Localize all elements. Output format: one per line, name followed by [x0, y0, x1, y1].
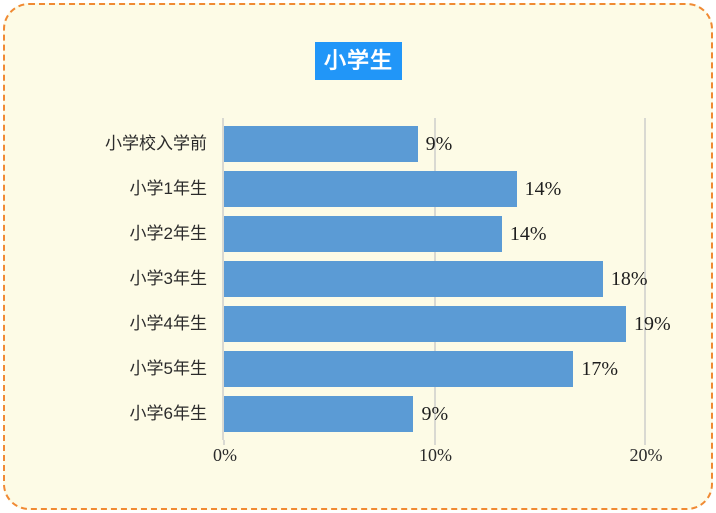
- bar-row: 小学6年生9%: [5, 396, 713, 432]
- x-tick-label: 20%: [606, 445, 686, 466]
- category-label: 小学4年生: [5, 306, 207, 342]
- bar-row: 小学3年生18%: [5, 261, 713, 297]
- bar-value-label: 9%: [426, 126, 453, 162]
- bar-value-label: 14%: [525, 171, 562, 207]
- bar-chart-plot-area: 0%10%20% 小学校入学前9%小学1年生14%小学2年生14%小学3年生18…: [5, 5, 713, 510]
- bar[interactable]: [224, 261, 603, 297]
- chart-card: 小学生 0%10%20% 小学校入学前9%小学1年生14%小学2年生14%小学3…: [3, 3, 713, 510]
- bar-row: 小学5年生17%: [5, 351, 713, 387]
- bar[interactable]: [224, 171, 517, 207]
- category-label: 小学2年生: [5, 216, 207, 252]
- x-tick-label: 0%: [185, 445, 265, 466]
- category-label: 小学1年生: [5, 171, 207, 207]
- bar-value-label: 19%: [634, 306, 671, 342]
- category-label: 小学3年生: [5, 261, 207, 297]
- bar-row: 小学2年生14%: [5, 216, 713, 252]
- bar-value-label: 17%: [581, 351, 618, 387]
- bar-row: 小学校入学前9%: [5, 126, 713, 162]
- category-label: 小学6年生: [5, 396, 207, 432]
- bar-value-label: 14%: [510, 216, 547, 252]
- bar[interactable]: [224, 306, 626, 342]
- category-label: 小学校入学前: [5, 126, 207, 162]
- bar[interactable]: [224, 351, 573, 387]
- x-tick-label: 10%: [396, 445, 476, 466]
- bar-value-label: 9%: [421, 396, 448, 432]
- bar-row: 小学1年生14%: [5, 171, 713, 207]
- bar[interactable]: [224, 216, 502, 252]
- bar-value-label: 18%: [611, 261, 648, 297]
- bar[interactable]: [224, 126, 418, 162]
- category-label: 小学5年生: [5, 351, 207, 387]
- bar-row: 小学4年生19%: [5, 306, 713, 342]
- bar[interactable]: [224, 396, 413, 432]
